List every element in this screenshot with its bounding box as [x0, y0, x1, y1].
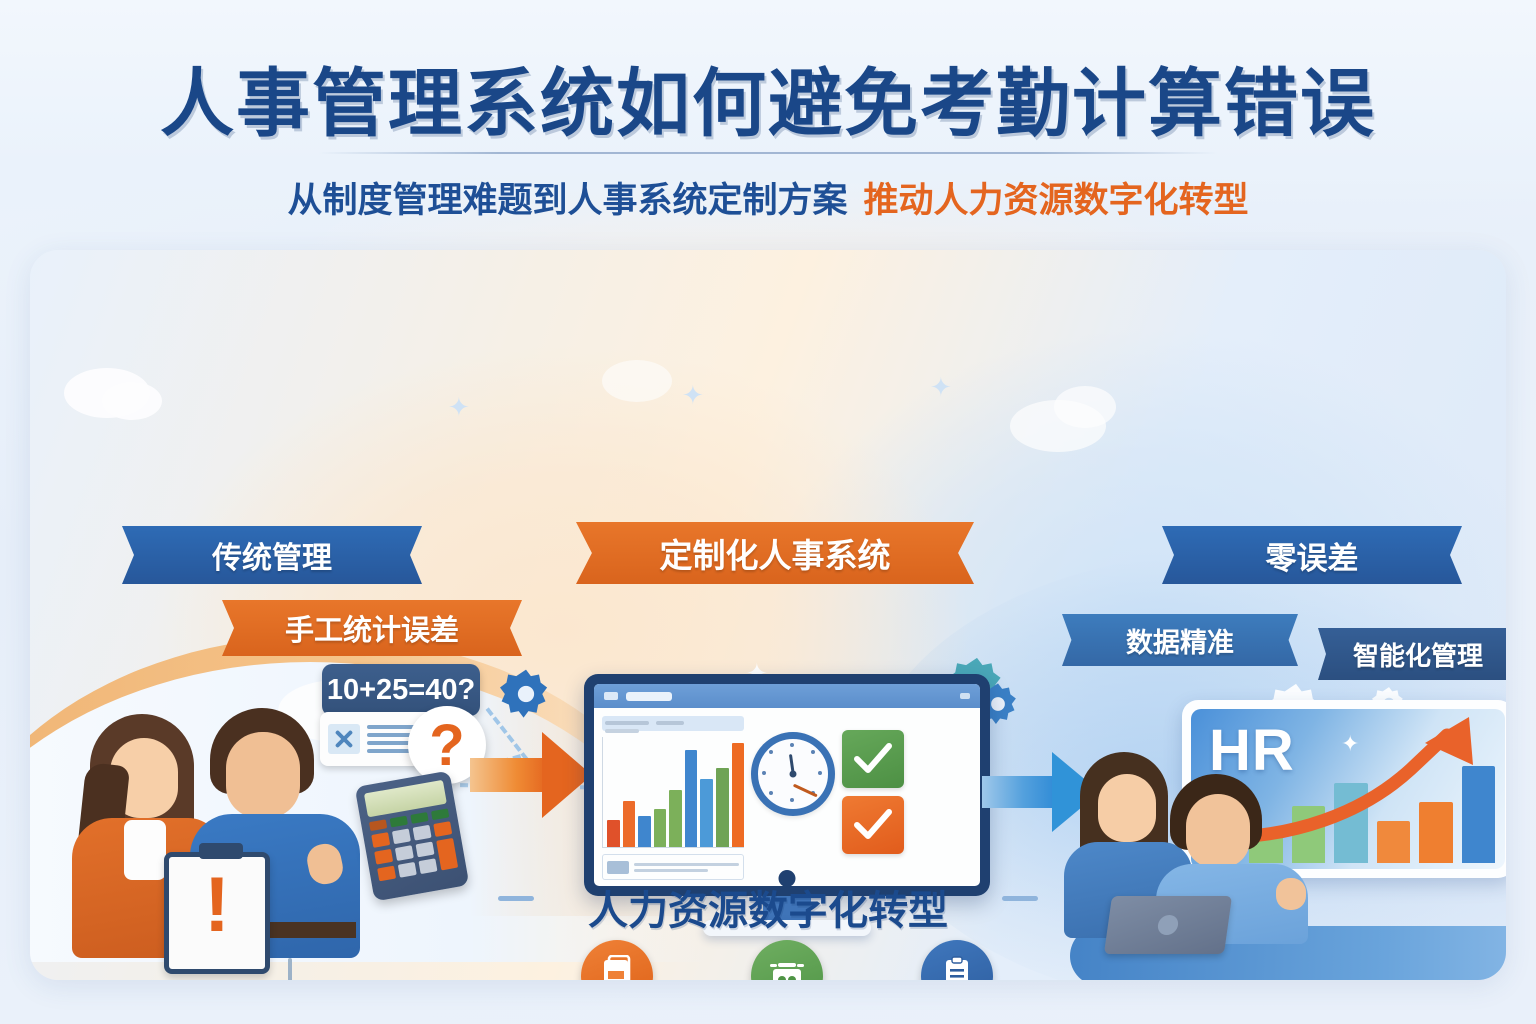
antenna — [288, 958, 292, 980]
feature-card-rules-engine[interactable]: 规则引擎 — [712, 976, 862, 980]
header-area: 人事管理系统如何避免考勤计算错误 从制度管理难题到人事系统定制方案推动人力资源数… — [0, 0, 1536, 240]
chart-bar — [716, 768, 729, 847]
cloud-decor-7 — [1054, 386, 1116, 428]
banner-legacy-management[interactable]: 传统管理 — [122, 526, 422, 584]
dashboard-chart-column — [602, 716, 744, 880]
chart-bar — [700, 779, 713, 847]
infographic-canvas: 人事管理系统如何避免考勤计算错误 从制度管理难题到人事系统定制方案推动人力资源数… — [0, 0, 1536, 1024]
chart-bar — [623, 801, 636, 847]
feature-card-daily-report[interactable]: 日报报表 — [882, 976, 1032, 980]
attendance-bar-chart — [602, 737, 744, 848]
chart-bar — [685, 750, 698, 847]
subtitle-primary: 从制度管理难题到人事系统定制方案 — [287, 181, 847, 220]
approved-check-green — [842, 730, 904, 788]
dashboard-clock-column — [751, 716, 835, 880]
subtitle: 从制度管理难题到人事系统定制方案推动人力资源数字化转型 — [0, 172, 1536, 223]
cloud-decor-5 — [602, 360, 672, 402]
analyst-man-face — [1186, 794, 1250, 868]
caption-dash-right — [1002, 896, 1038, 901]
subtitle-accent: 推动人力资源数字化转型 — [864, 181, 1249, 220]
sparkle-3: ✦ — [930, 372, 952, 403]
chart-bar — [669, 790, 682, 847]
page-title: 人事管理系统如何避免考勤计算错误 — [0, 44, 1536, 151]
bottom-caption: 人力资源数字化转型 — [0, 878, 1536, 936]
chart-bar — [732, 743, 745, 848]
chart-bar — [654, 809, 667, 848]
dashboard-mini-cards — [602, 854, 744, 880]
topbar-logo — [604, 692, 618, 700]
rules-engine-icon — [751, 940, 823, 980]
cloud-decor-2 — [102, 382, 162, 420]
desktop-monitor — [584, 674, 990, 896]
flow-arrow-orange — [470, 732, 592, 818]
approval-badges — [842, 730, 904, 880]
gear-icon-blue-left — [500, 668, 552, 720]
mini-card — [602, 854, 744, 880]
topbar-title-bar — [626, 692, 672, 701]
banner-smart-management[interactable]: 智能化管理 — [1318, 628, 1506, 680]
chart-bar — [638, 816, 651, 847]
feature-card-row: 自动考勤 规则引擎 日报报表 — [542, 976, 1032, 980]
woman-shirt — [124, 820, 166, 880]
banner-zero-error[interactable]: 零误差 — [1162, 526, 1462, 584]
title-divider — [318, 152, 1218, 154]
main-illustration-panel: ✦ ✦ ✦ ✦ ✦ — [30, 250, 1506, 980]
man-face — [226, 732, 300, 818]
banner-custom-hr-system[interactable]: 定制化人事系统 — [576, 522, 974, 584]
chart-legend — [605, 721, 684, 725]
banner-accurate-data[interactable]: 数据精准 — [1062, 614, 1298, 666]
sparkle-1: ✦ — [448, 392, 470, 423]
chart-bar — [607, 820, 620, 848]
chart-sublegend — [605, 729, 639, 733]
hr-woman-face — [1098, 774, 1156, 842]
dashboard-topbar — [594, 684, 980, 708]
sparkle-2: ✦ — [682, 380, 704, 411]
dashboard-screen — [594, 684, 980, 886]
banner-manual-error[interactable]: 手工统计误差 — [222, 600, 522, 656]
approved-check-orange — [842, 796, 904, 854]
cross-mark-icon — [328, 724, 360, 754]
feature-card-auto-attendance[interactable]: 自动考勤 — [542, 976, 692, 980]
topbar-menu-icon[interactable] — [960, 693, 970, 699]
attendance-clock-icon — [751, 732, 835, 816]
calculator-keypad — [371, 821, 458, 881]
dashboard-body — [594, 708, 980, 886]
